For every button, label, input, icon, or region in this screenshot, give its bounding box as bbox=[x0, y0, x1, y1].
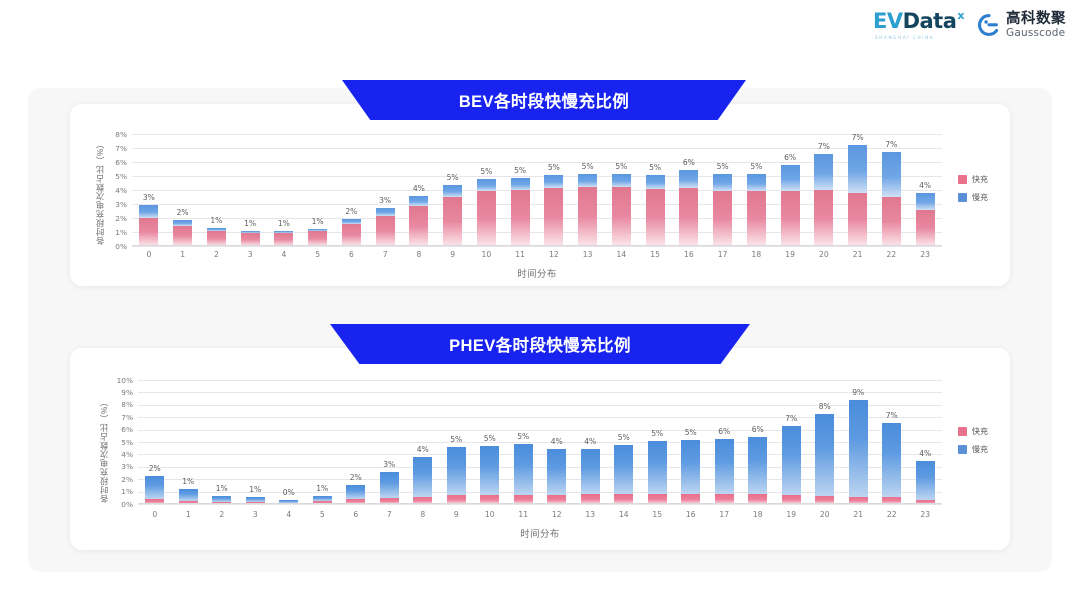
x-axis-ticks-phev: 01234567891011121314151617181920212223 bbox=[138, 510, 942, 519]
bar-segment-slow-charge bbox=[145, 476, 164, 499]
bar-column[interactable]: 0% bbox=[272, 380, 306, 504]
bar-segment-slow-charge bbox=[614, 445, 633, 495]
bar-segment-fast-charge bbox=[241, 233, 260, 246]
y-axis-tick-label: 5% bbox=[111, 438, 133, 447]
bar-value-label: 5% bbox=[649, 163, 661, 172]
x-axis-tick-label: 13 bbox=[571, 250, 605, 259]
x-axis-tick-label: 18 bbox=[741, 510, 775, 519]
bar-column[interactable]: 3% bbox=[373, 380, 407, 504]
page-header: EVDatax SHANGHAI CHINA 高科数聚 Gausscode bbox=[0, 0, 1080, 56]
bar-segment-slow-charge bbox=[413, 457, 432, 497]
gausscode-logo-en: Gausscode bbox=[1006, 28, 1066, 39]
bar-value-label: 5% bbox=[651, 429, 663, 438]
bar-stack: 5% bbox=[511, 178, 530, 246]
bar-segment-fast-charge bbox=[342, 224, 361, 246]
bar-stack: 7% bbox=[848, 145, 867, 246]
gausscode-mark-icon bbox=[978, 14, 1000, 36]
bar-value-label: 4% bbox=[417, 445, 429, 454]
bar-segment-slow-charge bbox=[511, 178, 530, 190]
bar-column[interactable]: 4% bbox=[908, 134, 942, 246]
bar-value-label: 3% bbox=[379, 196, 391, 205]
bar-value-label: 5% bbox=[618, 433, 630, 442]
bar-segment-slow-charge bbox=[782, 426, 801, 495]
bar-stack: 4% bbox=[547, 449, 566, 504]
x-axis-tick-label: 11 bbox=[507, 510, 541, 519]
bar-segment-fast-charge bbox=[544, 188, 563, 246]
bar-stack: 4% bbox=[916, 461, 935, 504]
bar-segment-slow-charge bbox=[679, 170, 698, 188]
bar-column[interactable]: 4% bbox=[540, 380, 574, 504]
bar-segment-slow-charge bbox=[814, 154, 833, 190]
bar-stack: 4% bbox=[916, 193, 935, 246]
bar-column[interactable]: 6% bbox=[708, 380, 742, 504]
bar-segment-fast-charge bbox=[848, 193, 867, 246]
bar-column[interactable]: 5% bbox=[641, 380, 675, 504]
bar-series-bev: 3%2%1%1%1%1%2%3%4%5%5%5%5%5%5%5%6%5%5%6%… bbox=[132, 134, 942, 246]
bar-value-label: 5% bbox=[484, 434, 496, 443]
bar-column[interactable]: 5% bbox=[470, 134, 504, 246]
bar-segment-fast-charge bbox=[679, 188, 698, 246]
bar-segment-slow-charge bbox=[346, 485, 365, 499]
legend-item-slow-charge[interactable]: 慢充 bbox=[958, 192, 988, 203]
legend-label-slow-charge: 慢充 bbox=[972, 444, 988, 455]
bar-column[interactable]: 1% bbox=[239, 380, 273, 504]
bar-value-label: 7% bbox=[818, 142, 830, 151]
evdata-logo-prefix: EV bbox=[873, 11, 903, 32]
x-axis-tick-label: 5 bbox=[306, 510, 340, 519]
bar-column[interactable]: 6% bbox=[672, 134, 706, 246]
bar-stack: 5% bbox=[477, 179, 496, 246]
x-axis-tick-label: 8 bbox=[406, 510, 440, 519]
bar-value-label: 5% bbox=[750, 162, 762, 171]
bar-column[interactable]: 5% bbox=[507, 380, 541, 504]
x-axis-tick-label: 4 bbox=[272, 510, 306, 519]
bar-stack: 5% bbox=[614, 445, 633, 504]
legend-item-fast-charge[interactable]: 快充 bbox=[958, 174, 988, 185]
bar-value-label: 7% bbox=[785, 414, 797, 423]
x-axis-line-bev bbox=[132, 245, 942, 246]
bar-column[interactable]: 4% bbox=[574, 380, 608, 504]
bar-segment-fast-charge bbox=[781, 191, 800, 246]
x-axis-tick-label: 5 bbox=[301, 250, 335, 259]
bar-segment-slow-charge bbox=[409, 196, 428, 207]
bar-segment-slow-charge bbox=[612, 174, 631, 187]
bar-value-label: 1% bbox=[244, 219, 256, 228]
x-axis-tick-label: 6 bbox=[335, 250, 369, 259]
bar-column[interactable]: 7% bbox=[807, 134, 841, 246]
bar-stack: 5% bbox=[514, 444, 533, 504]
legend-bev: 快充 慢充 bbox=[958, 174, 988, 203]
x-axis-tick-label: 1 bbox=[172, 510, 206, 519]
x-axis-tick-label: 9 bbox=[436, 250, 470, 259]
bar-segment-slow-charge bbox=[849, 400, 868, 497]
bar-value-label: 6% bbox=[784, 153, 796, 162]
legend-swatch-slow-charge bbox=[958, 445, 967, 454]
bar-segment-slow-charge bbox=[578, 174, 597, 187]
chart-block-bev: 各时段充电次数占比（%） 0%1%2%3%4%5%6%7%8% 3%2%1%1%… bbox=[70, 104, 1010, 286]
y-axis-tick-label: 6% bbox=[105, 158, 127, 167]
bar-stack: 5% bbox=[443, 185, 462, 246]
bar-value-label: 4% bbox=[413, 184, 425, 193]
x-axis-tick-label: 14 bbox=[605, 250, 639, 259]
bar-segment-slow-charge bbox=[646, 175, 665, 189]
bar-stack: 3% bbox=[139, 205, 158, 246]
bar-segment-slow-charge bbox=[815, 414, 834, 496]
bar-stack: 5% bbox=[480, 446, 499, 504]
bar-segment-slow-charge bbox=[882, 152, 901, 197]
legend-swatch-fast-charge bbox=[958, 175, 967, 184]
bar-stack: 5% bbox=[747, 174, 766, 246]
bar-column[interactable]: 5% bbox=[571, 134, 605, 246]
chart-title-phev: PHEV各时段快慢充比例 bbox=[449, 332, 631, 356]
bar-segment-slow-charge bbox=[715, 439, 734, 495]
legend-item-slow-charge[interactable]: 慢充 bbox=[958, 444, 988, 455]
bar-segment-fast-charge bbox=[409, 206, 428, 246]
bar-segment-fast-charge bbox=[612, 187, 631, 246]
bar-value-label: 4% bbox=[551, 437, 563, 446]
x-axis-tick-label: 15 bbox=[641, 510, 675, 519]
bar-column[interactable]: 7% bbox=[875, 380, 909, 504]
bar-column[interactable]: 5% bbox=[473, 380, 507, 504]
x-axis-tick-label: 0 bbox=[132, 250, 166, 259]
bar-segment-fast-charge bbox=[308, 231, 327, 246]
bar-column[interactable]: 5% bbox=[740, 134, 774, 246]
bar-segment-slow-charge bbox=[544, 175, 563, 188]
bar-column[interactable]: 6% bbox=[741, 380, 775, 504]
x-axis-tick-label: 14 bbox=[607, 510, 641, 519]
bar-stack: 5% bbox=[713, 174, 732, 246]
bar-value-label: 8% bbox=[819, 402, 831, 411]
bar-segment-slow-charge bbox=[477, 179, 496, 191]
bar-segment-slow-charge bbox=[747, 174, 766, 191]
bar-segment-slow-charge bbox=[748, 437, 767, 494]
bar-segment-fast-charge bbox=[916, 210, 935, 246]
bar-stack: 2% bbox=[346, 485, 365, 504]
x-axis-tick-label: 13 bbox=[574, 510, 608, 519]
bar-value-label: 1% bbox=[210, 216, 222, 225]
bar-column[interactable]: 2% bbox=[166, 134, 200, 246]
bar-column[interactable]: 5% bbox=[706, 134, 740, 246]
bar-column[interactable]: 1% bbox=[267, 134, 301, 246]
bar-column[interactable]: 7% bbox=[841, 134, 875, 246]
bar-segment-fast-charge bbox=[274, 233, 293, 246]
x-axis-tick-label: 2 bbox=[205, 510, 239, 519]
x-axis-tick-label: 3 bbox=[239, 510, 273, 519]
gausscode-logo: 高科数聚 Gausscode bbox=[978, 12, 1066, 38]
bar-column[interactable]: 7% bbox=[875, 134, 909, 246]
bar-segment-slow-charge bbox=[713, 174, 732, 191]
bar-segment-fast-charge bbox=[376, 216, 395, 246]
bar-column[interactable]: 5% bbox=[607, 380, 641, 504]
x-axis-tick-label: 19 bbox=[775, 510, 809, 519]
bar-value-label: 7% bbox=[886, 411, 898, 420]
bar-segment-fast-charge bbox=[477, 191, 496, 246]
bar-column[interactable]: 1% bbox=[301, 134, 335, 246]
bar-value-label: 4% bbox=[919, 449, 931, 458]
bar-stack: 5% bbox=[544, 175, 563, 246]
evdata-logo-subtitle: SHANGHAI CHINA bbox=[875, 35, 934, 40]
bar-value-label: 5% bbox=[548, 163, 560, 172]
bar-stack: 4% bbox=[413, 457, 432, 504]
legend-label-slow-charge: 慢充 bbox=[972, 192, 988, 203]
bar-value-label: 5% bbox=[685, 428, 697, 437]
bar-stack: 2% bbox=[145, 476, 164, 504]
bar-column[interactable]: 4% bbox=[909, 380, 943, 504]
bar-column[interactable]: 7% bbox=[775, 380, 809, 504]
chart-title-banner-phev: PHEV各时段快慢充比例 bbox=[330, 324, 750, 364]
y-axis-tick-label: 8% bbox=[111, 400, 133, 409]
bar-series-phev: 2%1%1%1%0%1%2%3%4%5%5%5%4%4%5%5%5%6%6%7%… bbox=[138, 380, 942, 504]
y-axis-tick-label: 4% bbox=[111, 450, 133, 459]
bar-stack: 1% bbox=[241, 231, 260, 246]
y-axis-tick-label: 0% bbox=[105, 242, 127, 251]
bar-stack: 6% bbox=[748, 437, 767, 504]
bar-segment-slow-charge bbox=[480, 446, 499, 495]
evdata-logo-word: Data bbox=[903, 11, 957, 32]
bar-column[interactable]: 3% bbox=[132, 134, 166, 246]
bar-stack: 3% bbox=[376, 208, 395, 246]
bar-stack: 7% bbox=[882, 423, 901, 504]
bar-value-label: 1% bbox=[249, 485, 261, 494]
chart-plot-phev: 各时段充电次数占比（%） 0%1%2%3%4%5%6%7%8%9%10% 2%1… bbox=[70, 348, 1010, 550]
gausscode-logo-cn: 高科数聚 bbox=[1006, 12, 1066, 27]
bar-stack: 1% bbox=[274, 231, 293, 246]
bar-value-label: 4% bbox=[919, 181, 931, 190]
bar-column[interactable]: 5% bbox=[440, 380, 474, 504]
bar-value-label: 1% bbox=[316, 484, 328, 493]
bar-stack: 5% bbox=[578, 174, 597, 246]
bar-value-label: 7% bbox=[852, 133, 864, 142]
chart-plot-bev: 各时段充电次数占比（%） 0%1%2%3%4%5%6%7%8% 3%2%1%1%… bbox=[70, 104, 1010, 286]
bar-segment-fast-charge bbox=[139, 218, 158, 246]
y-axis-tick-label: 9% bbox=[111, 388, 133, 397]
bar-segment-slow-charge bbox=[916, 193, 935, 210]
gridline bbox=[132, 246, 942, 247]
bar-column[interactable]: 4% bbox=[406, 380, 440, 504]
x-axis-title-phev: 时间分布 bbox=[138, 526, 942, 540]
bar-column[interactable]: 9% bbox=[842, 380, 876, 504]
bar-value-label: 5% bbox=[517, 432, 529, 441]
bar-stack: 3% bbox=[380, 472, 399, 504]
x-axis-tick-label: 15 bbox=[638, 250, 672, 259]
bar-stack: 8% bbox=[815, 414, 834, 504]
bar-column[interactable]: 5% bbox=[503, 134, 537, 246]
bar-segment-slow-charge bbox=[882, 423, 901, 497]
y-axis-tick-label: 2% bbox=[111, 475, 133, 484]
bar-stack: 9% bbox=[849, 400, 868, 504]
x-axis-tick-label: 16 bbox=[674, 510, 708, 519]
bar-value-label: 2% bbox=[350, 473, 362, 482]
bar-segment-fast-charge bbox=[646, 189, 665, 246]
chart-title-bev: BEV各时段快慢充比例 bbox=[459, 88, 629, 112]
bar-column[interactable]: 2% bbox=[335, 134, 369, 246]
bar-column[interactable]: 5% bbox=[638, 134, 672, 246]
y-axis-tick-label: 0% bbox=[111, 500, 133, 509]
chart-title-banner-bev: BEV各时段快慢充比例 bbox=[342, 80, 746, 120]
bar-segment-fast-charge bbox=[747, 191, 766, 246]
y-axis-tick-label: 7% bbox=[111, 413, 133, 422]
bar-value-label: 5% bbox=[514, 166, 526, 175]
bar-value-label: 5% bbox=[717, 162, 729, 171]
bar-value-label: 9% bbox=[852, 388, 864, 397]
bar-column[interactable]: 1% bbox=[205, 380, 239, 504]
bar-value-label: 4% bbox=[584, 437, 596, 446]
bar-segment-fast-charge bbox=[173, 226, 192, 246]
bar-segment-fast-charge bbox=[713, 191, 732, 246]
bar-value-label: 5% bbox=[615, 162, 627, 171]
bar-stack: 5% bbox=[447, 447, 466, 504]
bar-stack: 6% bbox=[679, 170, 698, 246]
x-axis-line-phev bbox=[138, 503, 942, 504]
bar-column[interactable]: 1% bbox=[200, 134, 234, 246]
x-axis-tick-label: 0 bbox=[138, 510, 172, 519]
plot-area-phev: 2%1%1%1%0%1%2%3%4%5%5%5%4%4%5%5%5%6%6%7%… bbox=[138, 380, 942, 504]
bar-stack: 1% bbox=[308, 229, 327, 246]
y-axis-tick-label: 2% bbox=[105, 214, 127, 223]
x-axis-tick-label: 12 bbox=[540, 510, 574, 519]
x-axis-tick-label: 2 bbox=[200, 250, 234, 259]
bar-value-label: 2% bbox=[345, 207, 357, 216]
bar-segment-slow-charge bbox=[581, 449, 600, 494]
bar-value-label: 2% bbox=[149, 464, 161, 473]
bar-value-label: 5% bbox=[450, 435, 462, 444]
bar-stack: 2% bbox=[173, 220, 192, 246]
bar-segment-slow-charge bbox=[781, 165, 800, 191]
bar-segment-fast-charge bbox=[882, 197, 901, 246]
bar-segment-slow-charge bbox=[179, 489, 198, 501]
y-axis-tick-label: 1% bbox=[105, 228, 127, 237]
bar-value-label: 1% bbox=[312, 217, 324, 226]
bar-column[interactable]: 3% bbox=[368, 134, 402, 246]
x-axis-tick-label: 17 bbox=[706, 250, 740, 259]
bar-segment-slow-charge bbox=[547, 449, 566, 494]
bar-column[interactable]: 5% bbox=[674, 380, 708, 504]
y-axis-tick-label: 6% bbox=[111, 425, 133, 434]
legend-item-fast-charge[interactable]: 快充 bbox=[958, 426, 988, 437]
bar-stack: 7% bbox=[782, 426, 801, 504]
bar-stack: 5% bbox=[681, 440, 700, 504]
bar-segment-slow-charge bbox=[848, 145, 867, 193]
bar-value-label: 0% bbox=[283, 488, 295, 497]
y-axis-tick-label: 3% bbox=[111, 462, 133, 471]
bar-column[interactable]: 5% bbox=[436, 134, 470, 246]
bar-stack: 5% bbox=[612, 174, 631, 246]
x-axis-tick-label: 21 bbox=[841, 250, 875, 259]
bar-segment-slow-charge bbox=[514, 444, 533, 494]
bar-value-label: 5% bbox=[480, 167, 492, 176]
x-axis-tick-label: 8 bbox=[402, 250, 436, 259]
bar-column[interactable]: 4% bbox=[402, 134, 436, 246]
bar-column[interactable]: 6% bbox=[773, 134, 807, 246]
y-axis-tick-label: 3% bbox=[105, 200, 127, 209]
bar-column[interactable]: 1% bbox=[306, 380, 340, 504]
bar-segment-slow-charge bbox=[376, 208, 395, 216]
x-axis-tick-label: 23 bbox=[909, 510, 943, 519]
bar-column[interactable]: 1% bbox=[172, 380, 206, 504]
bar-stack: 6% bbox=[715, 439, 734, 504]
x-axis-tick-label: 7 bbox=[373, 510, 407, 519]
bar-segment-slow-charge bbox=[648, 441, 667, 494]
bar-value-label: 1% bbox=[278, 219, 290, 228]
bar-column[interactable]: 8% bbox=[808, 380, 842, 504]
bar-column[interactable]: 2% bbox=[138, 380, 172, 504]
bar-value-label: 6% bbox=[752, 425, 764, 434]
bar-value-label: 5% bbox=[447, 173, 459, 182]
bar-column[interactable]: 1% bbox=[233, 134, 267, 246]
x-axis-tick-label: 17 bbox=[708, 510, 742, 519]
bar-stack: 4% bbox=[581, 449, 600, 504]
x-axis-tick-label: 9 bbox=[440, 510, 474, 519]
x-axis-tick-label: 21 bbox=[842, 510, 876, 519]
x-axis-tick-label: 20 bbox=[808, 510, 842, 519]
bar-stack: 7% bbox=[882, 152, 901, 246]
evdata-logo: EVDatax SHANGHAI CHINA bbox=[873, 11, 964, 40]
evdata-wordmark: EVDatax bbox=[873, 11, 964, 32]
bar-value-label: 6% bbox=[718, 427, 730, 436]
legend-label-fast-charge: 快充 bbox=[972, 174, 988, 185]
bar-value-label: 3% bbox=[143, 193, 155, 202]
y-axis-tick-label: 7% bbox=[105, 144, 127, 153]
bar-stack: 6% bbox=[781, 165, 800, 246]
chart-block-phev: 各时段充电次数占比（%） 0%1%2%3%4%5%6%7%8%9%10% 2%1… bbox=[70, 348, 1010, 550]
bar-stack: 5% bbox=[648, 441, 667, 504]
logo-group: EVDatax SHANGHAI CHINA 高科数聚 Gausscode bbox=[873, 11, 1066, 40]
x-axis-tick-label: 3 bbox=[233, 250, 267, 259]
bar-column[interactable]: 5% bbox=[605, 134, 639, 246]
x-axis-tick-label: 18 bbox=[740, 250, 774, 259]
bar-segment-fast-charge bbox=[443, 197, 462, 246]
bar-segment-fast-charge bbox=[814, 190, 833, 246]
bar-column[interactable]: 2% bbox=[339, 380, 373, 504]
x-axis-tick-label: 6 bbox=[339, 510, 373, 519]
bar-value-label: 3% bbox=[383, 460, 395, 469]
bar-segment-slow-charge bbox=[447, 447, 466, 495]
x-axis-tick-label: 23 bbox=[908, 250, 942, 259]
bar-stack: 4% bbox=[409, 196, 428, 246]
bar-segment-fast-charge bbox=[511, 190, 530, 246]
bar-segment-slow-charge bbox=[681, 440, 700, 495]
x-axis-tick-label: 16 bbox=[672, 250, 706, 259]
x-axis-tick-label: 12 bbox=[537, 250, 571, 259]
legend-swatch-fast-charge bbox=[958, 427, 967, 436]
y-axis-tick-label: 8% bbox=[105, 130, 127, 139]
bar-segment-slow-charge bbox=[916, 461, 935, 500]
x-axis-ticks-bev: 01234567891011121314151617181920212223 bbox=[132, 250, 942, 259]
bar-value-label: 2% bbox=[177, 208, 189, 217]
legend-swatch-slow-charge bbox=[958, 193, 967, 202]
y-axis-tick-label: 5% bbox=[105, 172, 127, 181]
x-axis-tick-label: 10 bbox=[473, 510, 507, 519]
x-axis-tick-label: 22 bbox=[875, 510, 909, 519]
x-axis-tick-label: 11 bbox=[503, 250, 537, 259]
bar-value-label: 7% bbox=[885, 140, 897, 149]
bar-value-label: 6% bbox=[683, 158, 695, 167]
y-axis-tick-label: 1% bbox=[111, 487, 133, 496]
gausscode-wordmark: 高科数聚 Gausscode bbox=[1006, 12, 1066, 38]
x-axis-title-bev: 时间分布 bbox=[132, 266, 942, 280]
bar-stack: 1% bbox=[179, 489, 198, 504]
evdata-logo-superscript: x bbox=[957, 10, 964, 21]
x-axis-tick-label: 22 bbox=[875, 250, 909, 259]
gridline bbox=[138, 504, 942, 505]
bar-segment-slow-charge bbox=[380, 472, 399, 498]
x-axis-tick-label: 7 bbox=[368, 250, 402, 259]
bar-stack: 5% bbox=[646, 175, 665, 246]
y-axis-tick-label: 4% bbox=[105, 186, 127, 195]
bar-value-label: 1% bbox=[182, 477, 194, 486]
bar-column[interactable]: 5% bbox=[537, 134, 571, 246]
legend-phev: 快充 慢充 bbox=[958, 426, 988, 455]
